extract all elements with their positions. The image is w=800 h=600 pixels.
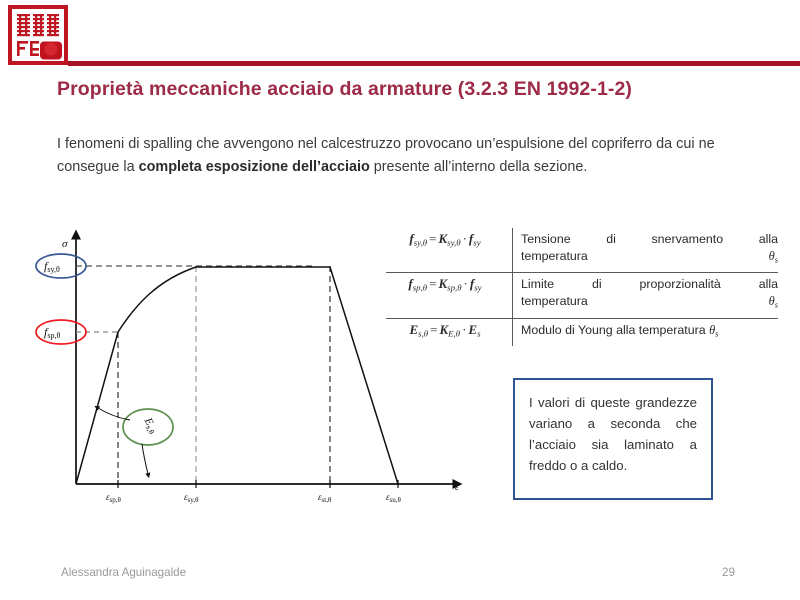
formula-table: fsy,θ=Ksy,θ·fsy Tensione di snervamento …: [386, 228, 778, 346]
formula-lhs-sub: sy,θ: [414, 237, 427, 247]
formula-dot: ·: [461, 231, 469, 246]
x-tick-label-sp: εsp,θ: [106, 492, 122, 504]
formula-equals: =: [427, 276, 438, 291]
formula-description-fsy: Tensione di snervamento alla temperatura…: [513, 228, 779, 273]
header-rule: [68, 61, 800, 66]
formula-k-base: K: [439, 322, 448, 337]
formula-f-sub: s: [477, 328, 480, 338]
description-line1: Limite di proporzionalità alla: [521, 276, 778, 293]
formula-lhs-sub: s,θ: [418, 328, 428, 338]
note-box: I valori di queste grandezze variano a s…: [513, 378, 713, 500]
formula-f-sub: sy: [474, 283, 481, 293]
x-tick-label-su: εsu,θ: [386, 492, 402, 504]
slide-canvas: Proprietà meccaniche acciaio da armature…: [0, 0, 800, 600]
formula-cell-fsy: fsy,θ=Ksy,θ·fsy: [386, 228, 513, 273]
leader-arrow-down: [142, 444, 148, 474]
seal-graphic: [8, 5, 68, 65]
description-sub: s: [715, 328, 718, 338]
description-line2-sub: s: [775, 300, 778, 310]
formula-dot: ·: [462, 276, 470, 291]
chinese-seal-logo: [8, 5, 68, 65]
annotation-label-Es: Es,θ: [140, 415, 159, 436]
formula-lhs-sub: sp,θ: [413, 283, 427, 293]
description-line2-pre: temperatura: [521, 294, 769, 308]
formula-k-sub: sp,θ: [447, 283, 461, 293]
formula-k-sub: sy,θ: [447, 237, 460, 247]
description-line2: temperatura θs: [521, 293, 778, 313]
description-line2: temperatura θs: [521, 248, 778, 268]
formula-row-fsp: fsp,θ=Ksp,θ·fsy Limite di proporzionalit…: [386, 273, 778, 318]
formula-equals: =: [428, 322, 439, 337]
body-text-part2: presente all’interno della sezione.: [370, 159, 588, 175]
formula-row-Es: Es,θ=KE,θ·Es Modulo di Young alla temper…: [386, 318, 778, 346]
description-line1: Tensione di snervamento alla: [521, 231, 778, 248]
note-box-text: I valori di queste grandezze variano a s…: [515, 380, 711, 476]
footer-author: Alessandra Aguinagalde: [61, 566, 186, 579]
description-line2-sub: s: [775, 254, 778, 264]
body-text-bold: completa esposizione dell’acciaio: [139, 159, 370, 175]
formula-k-base: K: [438, 276, 447, 291]
footer-page-number: 29: [722, 566, 735, 579]
formula-f-sub: sy: [473, 237, 480, 247]
y-tick-label-fsy: fsy,θ: [44, 259, 60, 274]
formula-lhs-base: E: [409, 322, 418, 337]
formula-row-fsy: fsy,θ=Ksy,θ·fsy Tensione di snervamento …: [386, 228, 778, 273]
formula-description-Es: Modulo di Young alla temperatura θs: [513, 318, 779, 346]
x-axis-label: ε: [455, 482, 459, 493]
formula-equals: =: [427, 231, 438, 246]
description-line1: Modulo di Young alla temperatura: [521, 323, 709, 337]
formula-f-base: E: [468, 322, 477, 337]
page-title: Proprietà meccaniche acciaio da armature…: [57, 78, 777, 101]
description-line2-pre: temperatura: [521, 249, 769, 263]
stress-strain-curve: [76, 267, 398, 484]
formula-k-sub: E,θ: [448, 328, 460, 338]
x-tick-label-sy: εsy,θ: [184, 492, 199, 504]
formula-description-fsp: Limite di proporzionalità alla temperatu…: [513, 273, 779, 318]
formula-cell-fsp: fsp,θ=Ksp,θ·fsy: [386, 273, 513, 318]
x-tick-label-st: εst,θ: [318, 492, 332, 504]
body-paragraph: I fenomeni di spalling che avvengono nel…: [57, 133, 757, 179]
formula-cell-Es: Es,θ=KE,θ·Es: [386, 318, 513, 346]
formula-k-base: K: [438, 231, 447, 246]
y-tick-label-fsp: fsp,θ: [44, 325, 60, 340]
y-axis-label: σ: [62, 238, 68, 250]
